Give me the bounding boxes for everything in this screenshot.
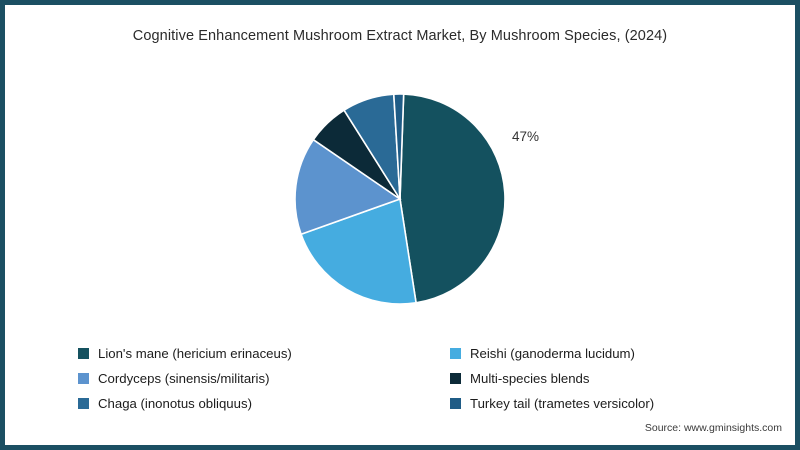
legend-swatch-icon	[78, 398, 89, 409]
legend-swatch-icon	[78, 348, 89, 359]
legend-swatch-icon	[450, 398, 461, 409]
legend-item-label: Lion's mane (hericium erinaceus)	[98, 346, 292, 361]
chart-page: Cognitive Enhancement Mushroom Extract M…	[0, 0, 800, 450]
chart-legend: Lion's mane (hericium erinaceus) Reishi …	[78, 341, 728, 416]
legend-item-multi-species-blends[interactable]: Multi-species blends	[450, 371, 728, 386]
pie-slice-value-label: 47%	[512, 129, 539, 144]
pie-chart	[294, 93, 506, 305]
pie-slice-group	[295, 94, 505, 304]
legend-item-cordyceps[interactable]: Cordyceps (sinensis/militaris)	[78, 371, 450, 386]
legend-item-lions-mane[interactable]: Lion's mane (hericium erinaceus)	[78, 346, 450, 361]
pie-slice[interactable]	[400, 94, 505, 303]
pie-chart-svg	[294, 93, 506, 305]
chart-title: Cognitive Enhancement Mushroom Extract M…	[0, 28, 800, 44]
legend-item-label: Cordyceps (sinensis/militaris)	[98, 371, 269, 386]
legend-item-label: Turkey tail (trametes versicolor)	[470, 396, 654, 411]
legend-item-chaga[interactable]: Chaga (inonotus obliquus)	[78, 396, 450, 411]
legend-item-label: Multi-species blends	[470, 371, 589, 386]
legend-item-label: Reishi (ganoderma lucidum)	[470, 346, 635, 361]
legend-item-turkey-tail[interactable]: Turkey tail (trametes versicolor)	[450, 396, 728, 411]
legend-swatch-icon	[78, 373, 89, 384]
legend-item-label: Chaga (inonotus obliquus)	[98, 396, 252, 411]
legend-item-reishi[interactable]: Reishi (ganoderma lucidum)	[450, 346, 728, 361]
legend-swatch-icon	[450, 348, 461, 359]
legend-swatch-icon	[450, 373, 461, 384]
source-attribution: Source: www.gminsights.com	[645, 422, 782, 434]
